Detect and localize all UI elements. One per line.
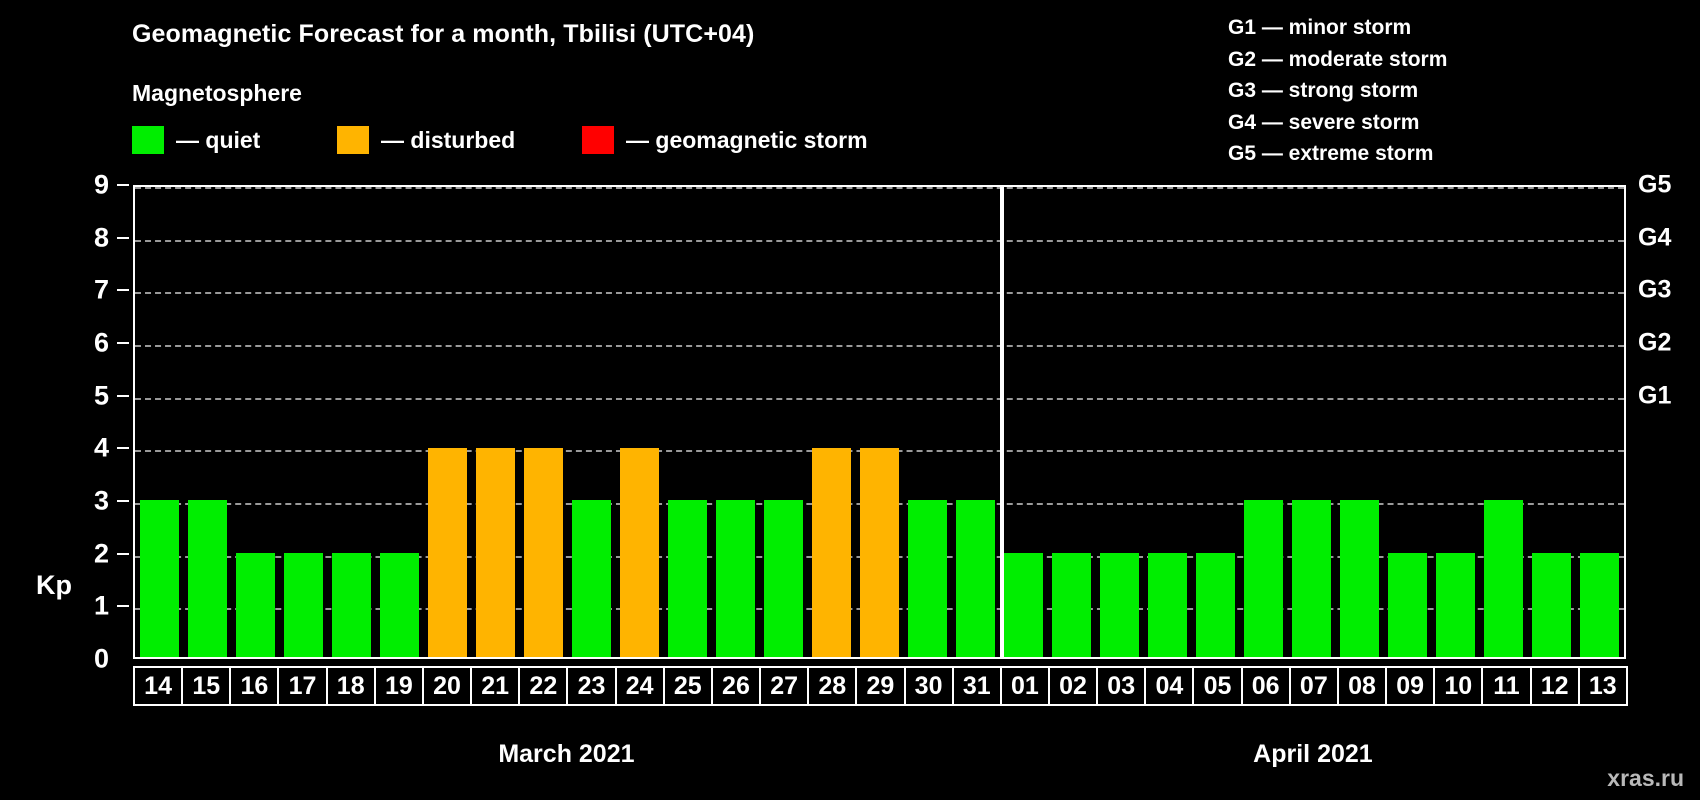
bar-cell-25[interactable]	[663, 187, 711, 657]
bar-cell-01[interactable]	[1000, 187, 1048, 657]
date-label-22[interactable]: 22	[518, 666, 568, 706]
bar-cell-14[interactable]	[135, 187, 183, 657]
legend-item-1: — disturbed	[337, 125, 515, 155]
bar-22[interactable]	[524, 448, 563, 657]
date-axis: 1415161718192021222324252627282930310102…	[133, 666, 1626, 706]
date-label-07[interactable]: 07	[1289, 666, 1339, 706]
bar-14[interactable]	[140, 500, 179, 657]
y-tick-mark-8	[117, 237, 129, 239]
date-label-05[interactable]: 05	[1192, 666, 1242, 706]
bar-29[interactable]	[860, 448, 899, 657]
bar-cell-10[interactable]	[1432, 187, 1480, 657]
bar-27[interactable]	[764, 500, 803, 657]
date-label-24[interactable]: 24	[615, 666, 665, 706]
y-tick-mark-5	[117, 395, 129, 397]
bar-21[interactable]	[476, 448, 515, 657]
legend-item-label: — quiet	[176, 127, 260, 154]
bar-28[interactable]	[812, 448, 851, 657]
bar-11[interactable]	[1484, 500, 1523, 657]
bar-15[interactable]	[188, 500, 227, 657]
watermark: xras.ru	[1607, 765, 1684, 792]
bar-23[interactable]	[572, 500, 611, 657]
bar-cell-02[interactable]	[1048, 187, 1096, 657]
date-label-27[interactable]: 27	[759, 666, 809, 706]
red-square-icon	[582, 126, 614, 154]
month-caption-0: March 2021	[416, 740, 716, 769]
bar-cell-04[interactable]	[1144, 187, 1192, 657]
bar-cell-09[interactable]	[1384, 187, 1432, 657]
g-scale-row-5: G5 — extreme storm	[1228, 138, 1447, 170]
y-tick-mark-9	[117, 184, 129, 186]
y-axis: Kp 9876543210	[0, 185, 131, 659]
bar-03[interactable]	[1100, 553, 1139, 657]
date-label-09[interactable]: 09	[1385, 666, 1435, 706]
bar-cell-30[interactable]	[904, 187, 952, 657]
bar-30[interactable]	[908, 500, 947, 657]
month-caption-1: April 2021	[1163, 740, 1463, 769]
bar-04[interactable]	[1148, 553, 1187, 657]
legend-item-2: — geomagnetic storm	[582, 125, 868, 155]
g-axis-label-G4: G4	[1638, 223, 1671, 252]
y-tick-mark-3	[117, 500, 129, 502]
bar-cell-22[interactable]	[519, 187, 567, 657]
bar-cell-24[interactable]	[615, 187, 663, 657]
date-label-14[interactable]: 14	[133, 666, 183, 706]
bar-19[interactable]	[380, 553, 419, 657]
orange-square-icon	[337, 126, 369, 154]
green-square-icon	[132, 126, 164, 154]
g-scale-row-3: G3 — strong storm	[1228, 75, 1447, 107]
date-label-13[interactable]: 13	[1578, 666, 1628, 706]
date-label-01[interactable]: 01	[1000, 666, 1050, 706]
bar-13[interactable]	[1580, 553, 1619, 657]
bar-17[interactable]	[284, 553, 323, 657]
page-title: Geomagnetic Forecast for a month, Tbilis…	[132, 20, 754, 49]
bar-06[interactable]	[1244, 500, 1283, 657]
date-label-04[interactable]: 04	[1144, 666, 1194, 706]
bar-cell-06[interactable]	[1240, 187, 1288, 657]
date-label-25[interactable]: 25	[663, 666, 713, 706]
legend-item-label: — disturbed	[381, 127, 515, 154]
date-label-21[interactable]: 21	[470, 666, 520, 706]
legend-item-label: — geomagnetic storm	[626, 127, 868, 154]
bar-cell-11[interactable]	[1480, 187, 1528, 657]
bar-18[interactable]	[332, 553, 371, 657]
bar-cell-12[interactable]	[1528, 187, 1576, 657]
y-tick-label-2: 2	[94, 538, 109, 569]
bar-01[interactable]	[1004, 553, 1043, 657]
date-label-12[interactable]: 12	[1530, 666, 1580, 706]
date-label-03[interactable]: 03	[1096, 666, 1146, 706]
date-label-02[interactable]: 02	[1048, 666, 1098, 706]
g-axis-label-G3: G3	[1638, 276, 1671, 305]
bar-cell-29[interactable]	[855, 187, 903, 657]
y-tick-mark-1	[117, 605, 129, 607]
g-scale-row-4: G4 — severe storm	[1228, 107, 1447, 139]
bar-cell-23[interactable]	[567, 187, 615, 657]
g-axis-label-G2: G2	[1638, 329, 1671, 358]
date-label-16[interactable]: 16	[229, 666, 279, 706]
date-label-30[interactable]: 30	[904, 666, 954, 706]
y-tick-mark-7	[117, 289, 129, 291]
bar-25[interactable]	[668, 500, 707, 657]
bar-cell-18[interactable]	[327, 187, 375, 657]
bar-cell-08[interactable]	[1336, 187, 1384, 657]
date-label-26[interactable]: 26	[711, 666, 761, 706]
legend-item-0: — quiet	[132, 125, 260, 155]
bar-07[interactable]	[1292, 500, 1331, 657]
g-scale-axis: G5G4G3G2G1	[1630, 185, 1700, 659]
bar-cell-20[interactable]	[423, 187, 471, 657]
date-label-31[interactable]: 31	[952, 666, 1002, 706]
date-label-20[interactable]: 20	[422, 666, 472, 706]
y-tick-label-6: 6	[94, 328, 109, 359]
bar-cell-03[interactable]	[1096, 187, 1144, 657]
bar-09[interactable]	[1388, 553, 1427, 657]
date-label-10[interactable]: 10	[1433, 666, 1483, 706]
bar-cell-15[interactable]	[183, 187, 231, 657]
bar-series	[135, 187, 1624, 657]
y-tick-label-4: 4	[94, 433, 109, 464]
g-scale-legend: G1 — minor stormG2 — moderate stormG3 — …	[1228, 12, 1447, 170]
bar-cell-05[interactable]	[1192, 187, 1240, 657]
g-scale-row-2: G2 — moderate storm	[1228, 44, 1447, 76]
date-label-15[interactable]: 15	[181, 666, 231, 706]
date-label-28[interactable]: 28	[807, 666, 857, 706]
chart-plot-area	[133, 185, 1626, 659]
g-axis-label-G1: G1	[1638, 381, 1671, 410]
bar-26[interactable]	[716, 500, 755, 657]
y-tick-mark-6	[117, 342, 129, 344]
bar-cell-27[interactable]	[759, 187, 807, 657]
bar-cell-13[interactable]	[1576, 187, 1624, 657]
bar-02[interactable]	[1052, 553, 1091, 657]
bar-cell-28[interactable]	[807, 187, 855, 657]
g-scale-row-1: G1 — minor storm	[1228, 12, 1447, 44]
date-label-29[interactable]: 29	[855, 666, 905, 706]
bar-31[interactable]	[956, 500, 995, 657]
bar-cell-31[interactable]	[952, 187, 1000, 657]
bar-cell-19[interactable]	[375, 187, 423, 657]
date-label-11[interactable]: 11	[1481, 666, 1531, 706]
bar-12[interactable]	[1532, 553, 1571, 657]
bar-10[interactable]	[1436, 553, 1475, 657]
bar-08[interactable]	[1340, 500, 1379, 657]
bar-cell-16[interactable]	[231, 187, 279, 657]
y-axis-label: Kp	[36, 570, 72, 601]
y-tick-label-0: 0	[94, 644, 109, 675]
y-tick-label-8: 8	[94, 222, 109, 253]
bar-16[interactable]	[236, 553, 275, 657]
date-label-23[interactable]: 23	[566, 666, 616, 706]
date-label-19[interactable]: 19	[374, 666, 424, 706]
bar-cell-07[interactable]	[1288, 187, 1336, 657]
y-tick-label-7: 7	[94, 275, 109, 306]
g-axis-label-G5: G5	[1638, 171, 1671, 200]
bar-05[interactable]	[1196, 553, 1235, 657]
bar-cell-17[interactable]	[279, 187, 327, 657]
y-tick-label-5: 5	[94, 380, 109, 411]
y-tick-mark-4	[117, 447, 129, 449]
date-label-17[interactable]: 17	[277, 666, 327, 706]
y-tick-label-1: 1	[94, 591, 109, 622]
bar-cell-21[interactable]	[471, 187, 519, 657]
y-tick-mark-2	[117, 553, 129, 555]
bar-cell-26[interactable]	[711, 187, 759, 657]
date-label-08[interactable]: 08	[1337, 666, 1387, 706]
chart-subtitle: Magnetosphere	[132, 80, 302, 107]
bar-20[interactable]	[428, 448, 467, 657]
bar-24[interactable]	[620, 448, 659, 657]
y-tick-label-3: 3	[94, 486, 109, 517]
month-separator	[1000, 185, 1004, 659]
date-label-18[interactable]: 18	[326, 666, 376, 706]
date-label-06[interactable]: 06	[1241, 666, 1291, 706]
y-tick-label-9: 9	[94, 170, 109, 201]
